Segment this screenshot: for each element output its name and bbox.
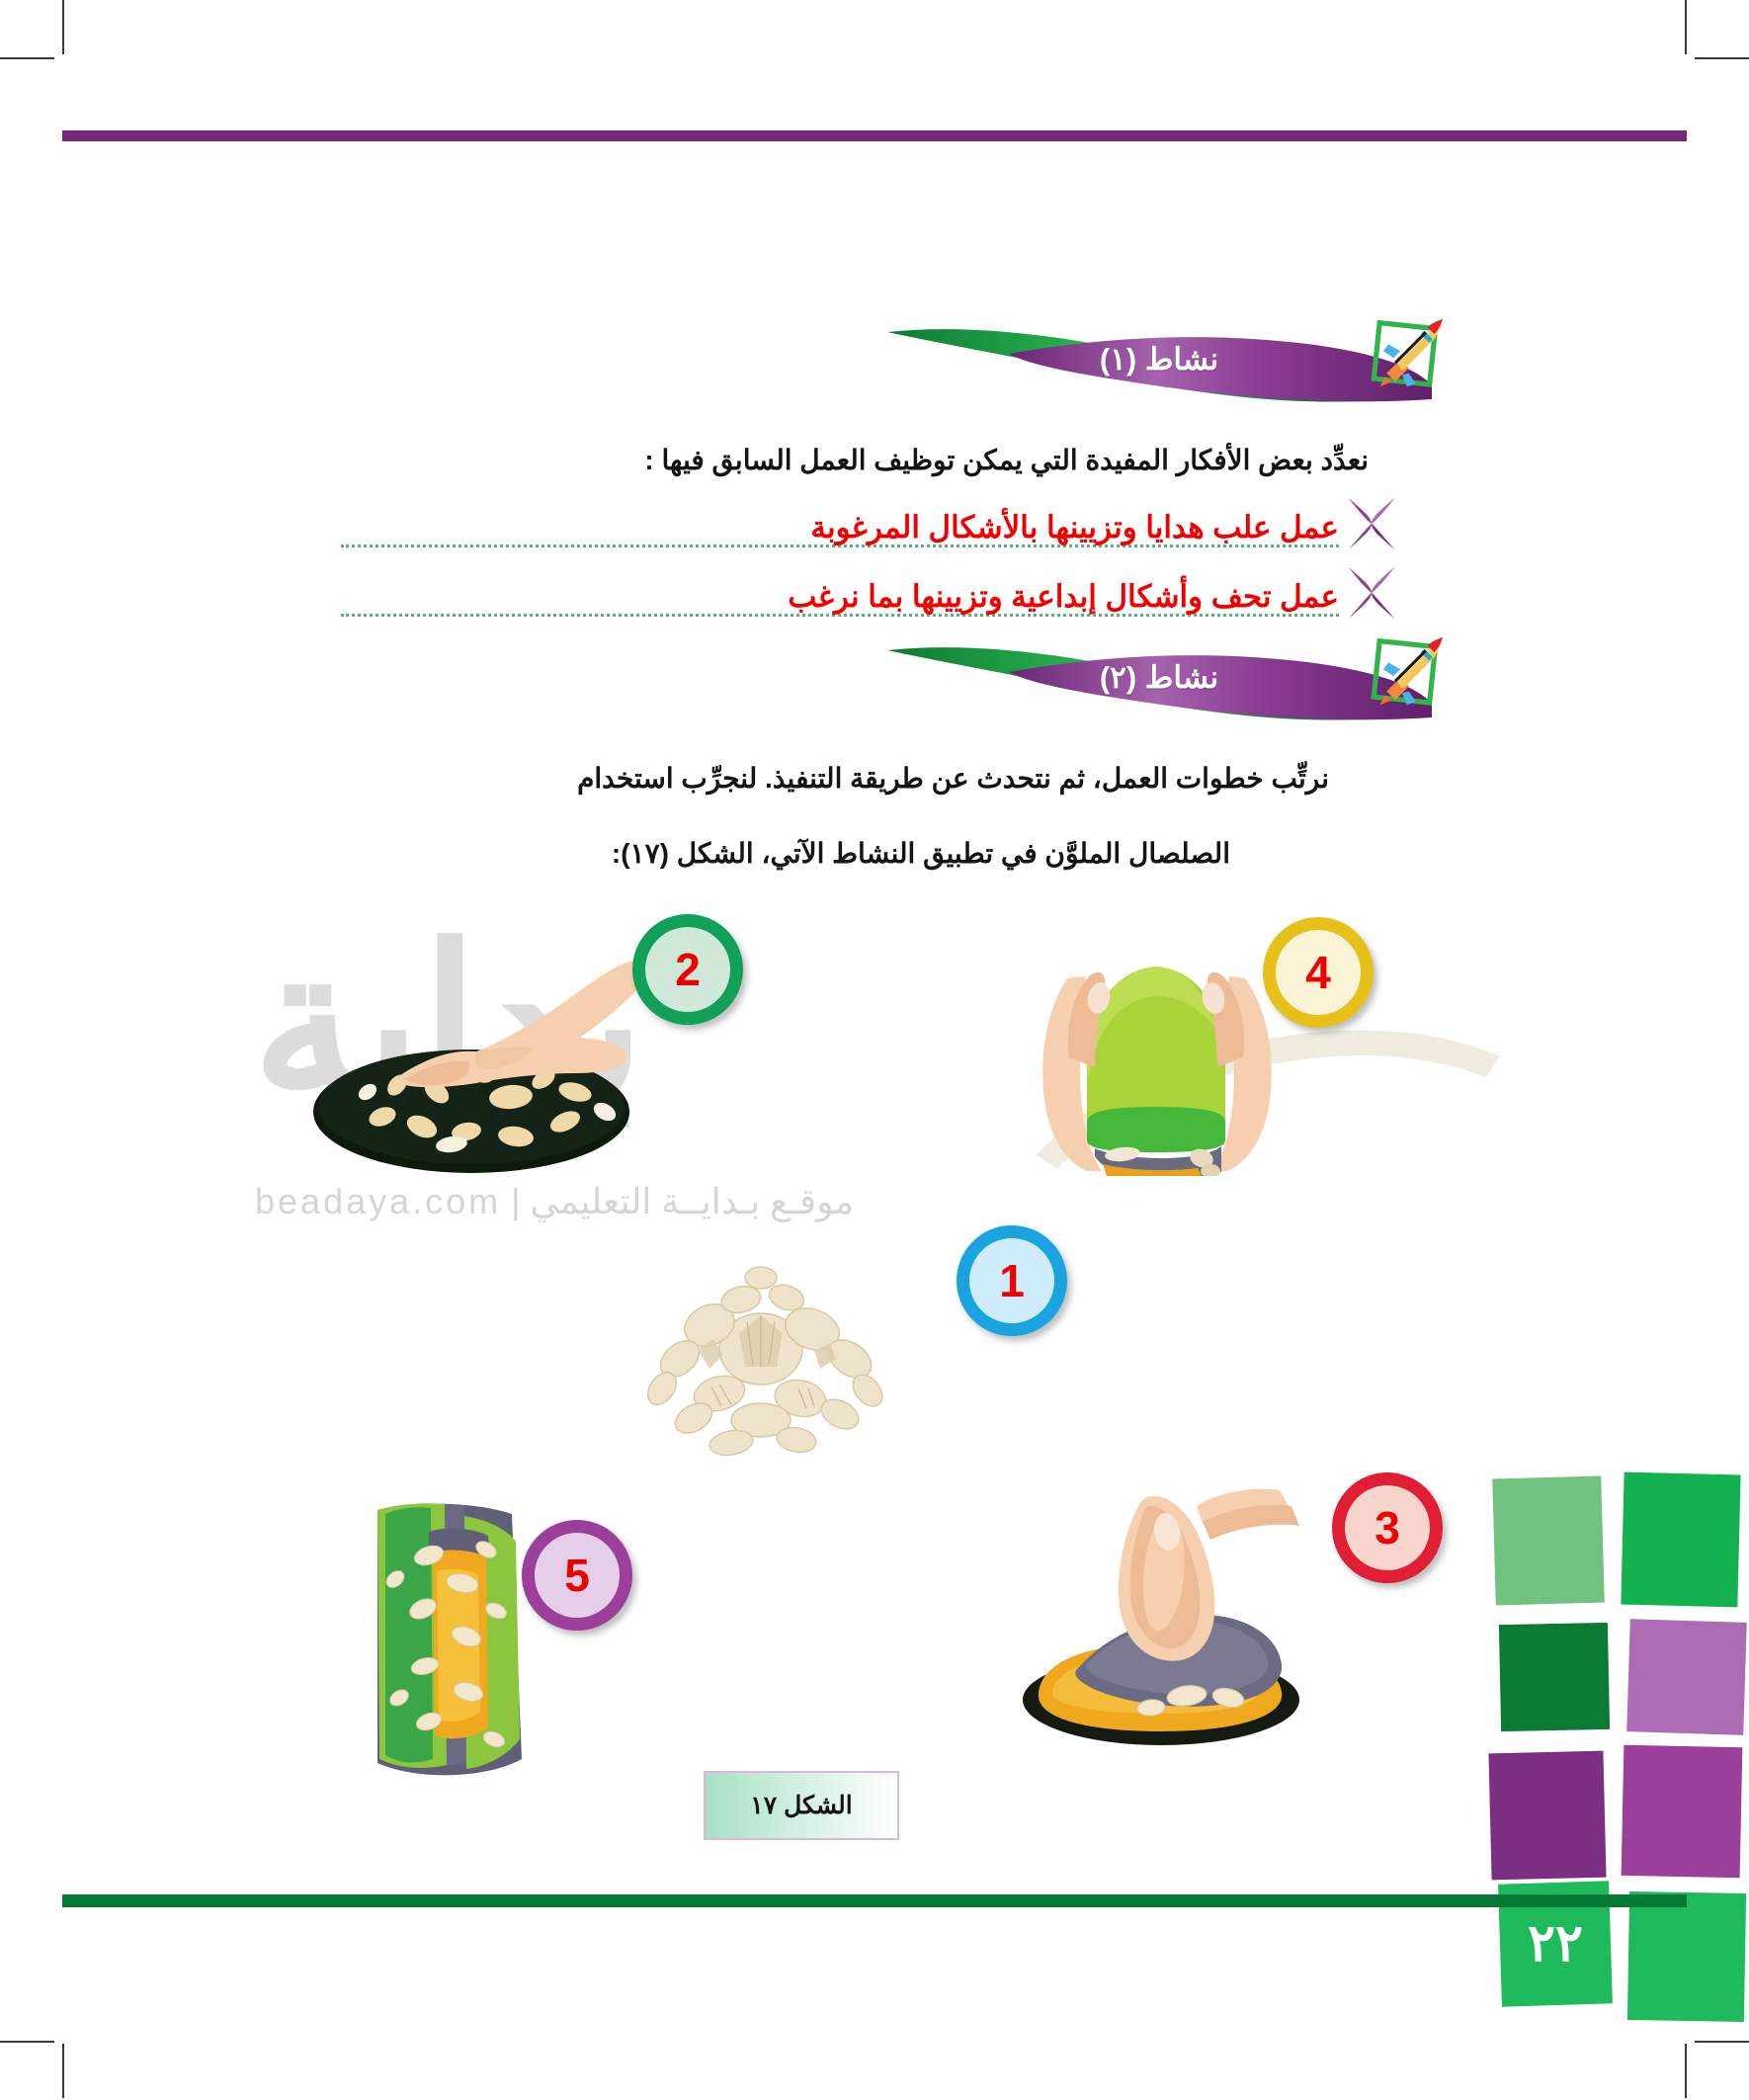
tile-3 bbox=[1499, 1623, 1610, 1731]
tile-1 bbox=[1492, 1475, 1605, 1605]
crop-mark-right-bottom bbox=[1695, 2041, 1749, 2043]
answer-dotted-line-2: عمل تحف وأشكال إبداعية وتزيينها بما نرغب bbox=[341, 563, 1339, 623]
watermark-url: موقـع بـدايــة التعليمي | beadaya.com bbox=[255, 1181, 854, 1222]
rocket-pencil-icon bbox=[1365, 629, 1450, 714]
activity-2-paragraph-line-1: نرتِّب خطوات العمل، ثم نتحدث عن طريقة ال… bbox=[331, 753, 1329, 804]
activity-2-banner: نشاط (٢) bbox=[882, 632, 1436, 726]
tile-6 bbox=[1622, 1745, 1743, 1878]
activity-1-answer-row-1: عمل علب هدايا وتزيينها بالأشكال المرغوبة bbox=[341, 494, 1398, 553]
tile-8 bbox=[1627, 1891, 1746, 2022]
figure-photo-step-1 bbox=[603, 1230, 919, 1477]
corner-tile-decoration: ٢٢ bbox=[1472, 1468, 1749, 2021]
crop-mark-top-right bbox=[1685, 0, 1687, 54]
tile-4 bbox=[1626, 1619, 1747, 1735]
tile-2 bbox=[1621, 1472, 1740, 1608]
photo-hands-pressing-green-clay bbox=[1008, 929, 1304, 1176]
step-badge-3: 3 bbox=[1332, 1472, 1443, 1583]
step-badge-1: 1 bbox=[957, 1225, 1067, 1336]
x-star-icon bbox=[1345, 563, 1398, 623]
activity-1-intro: نعدِّد بعض الأفكار المفيدة التي يمكن توظ… bbox=[361, 435, 1369, 486]
x-star-icon bbox=[1345, 494, 1398, 553]
step-badge-4: 4 bbox=[1263, 917, 1374, 1028]
photo-pile-of-seashells bbox=[603, 1230, 919, 1477]
step-badge-5: 5 bbox=[522, 1520, 632, 1631]
figure-caption: الشكل ١٧ bbox=[704, 1771, 899, 1840]
crop-mark-left-bottom bbox=[0, 2041, 54, 2043]
activity-1-answer-row-2: عمل تحف وأشكال إبداعية وتزيينها بما نرغب bbox=[341, 563, 1398, 623]
crop-mark-right-top bbox=[1695, 57, 1749, 59]
figure-photo-step-4 bbox=[1008, 929, 1304, 1176]
crop-mark-left-top bbox=[0, 57, 54, 59]
banner-ribbon bbox=[882, 314, 1436, 408]
figure-photo-step-5 bbox=[338, 1492, 555, 1789]
crop-mark-bottom-right bbox=[1685, 2044, 1687, 2098]
activity-1-answer-2: عمل تحف وأشكال إبداعية وتزيينها بما نرغب bbox=[341, 579, 1339, 615]
activity-1-answer-1: عمل علب هدايا وتزيينها بالأشكال المرغوبة bbox=[341, 510, 1339, 546]
crop-mark-top-left bbox=[62, 0, 64, 54]
activity-1-banner: نشاط (١) bbox=[882, 314, 1436, 408]
tile-5 bbox=[1488, 1751, 1606, 1881]
footer-rule bbox=[62, 1894, 1687, 1907]
rocket-pencil-icon bbox=[1365, 310, 1450, 395]
textbook-page: نشاط (١) نعدِّد بعض الأفكار المفيدة التي… bbox=[0, 0, 1749, 2100]
photo-finished-clay-slab bbox=[338, 1492, 555, 1789]
activity-2-paragraph-line-2: الصلصال الملوَّن في تطبيق النشاط الآتي، … bbox=[331, 828, 1230, 880]
photo-hand-folding-clay bbox=[993, 1463, 1329, 1759]
answer-dotted-line-1: عمل علب هدايا وتزيينها بالأشكال المرغوبة bbox=[341, 494, 1339, 553]
banner-ribbon bbox=[882, 632, 1436, 726]
crop-mark-bottom-left bbox=[62, 2044, 64, 2098]
step-badge-2: 2 bbox=[632, 914, 743, 1025]
figure-photo-step-3 bbox=[993, 1463, 1329, 1759]
header-rule bbox=[62, 130, 1687, 141]
